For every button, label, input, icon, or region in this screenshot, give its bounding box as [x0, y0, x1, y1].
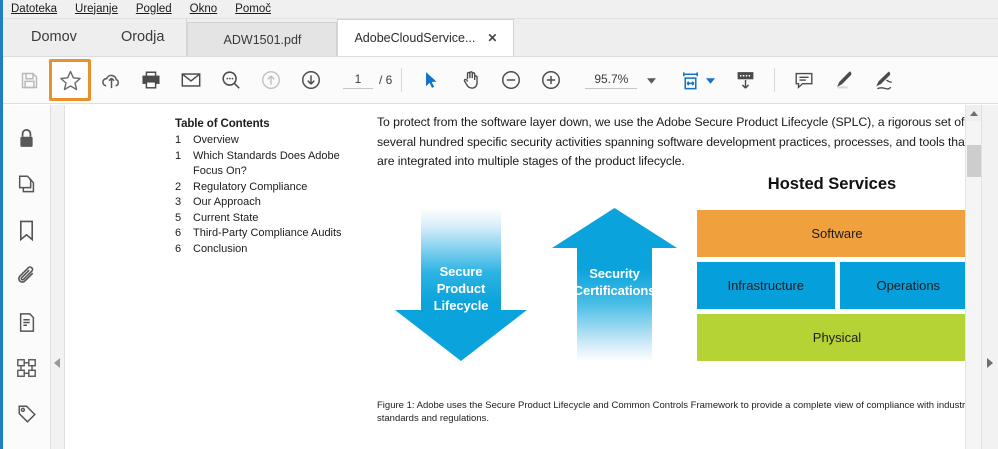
- comment-icon[interactable]: [784, 60, 824, 100]
- fit-page-chevron-down-icon[interactable]: [706, 71, 715, 89]
- arrow-up-line-1: Security: [552, 265, 677, 282]
- arrow-down-label: Secure Product Lifecycle: [395, 263, 527, 314]
- document-icon[interactable]: [12, 309, 42, 335]
- arrow-up-line-2: Certifications: [552, 282, 677, 299]
- left-pane-collapse-handle[interactable]: [51, 105, 65, 449]
- chevron-right-icon: [987, 358, 993, 368]
- toc-entry-title: Which Standards Does Adobe Focus On?: [193, 149, 360, 180]
- document-tabs: ADW1501.pdf AdobeCloudService... ✕: [187, 18, 514, 56]
- attachment-icon[interactable]: [12, 263, 42, 289]
- star-icon[interactable]: [49, 59, 91, 101]
- chevron-up-icon: [970, 111, 978, 116]
- toc-entry-title: Regulatory Compliance: [193, 180, 360, 196]
- arrow-down-line-1: Secure: [395, 263, 527, 280]
- scroll-mode-icon[interactable]: [725, 60, 765, 100]
- search-icon[interactable]: [211, 60, 251, 100]
- toc-entry-page: 1: [175, 133, 193, 149]
- work-area: Table of Contents 1 Overview 1 Which Sta…: [3, 105, 998, 449]
- right-pane-expand-handle[interactable]: [981, 105, 998, 449]
- document-tab-adw1501[interactable]: ADW1501.pdf: [187, 22, 337, 56]
- tab-strip: Domov Orodja ADW1501.pdf AdobeCloudServi…: [3, 19, 998, 57]
- figure-diagram: Hosted Services: [377, 175, 965, 390]
- service-box-infrastructure[interactable]: Infrastructure: [697, 262, 835, 309]
- cloud-upload-icon[interactable]: [91, 60, 131, 100]
- menu-bar: Datoteka Urejanje Pogled Okno Pomoč: [3, 0, 998, 19]
- toc-entry-page: 6: [175, 242, 193, 258]
- zoom-out-icon[interactable]: [491, 60, 531, 100]
- toc-entry[interactable]: 1 Which Standards Does Adobe Focus On?: [175, 149, 360, 180]
- home-button[interactable]: Domov: [9, 18, 99, 56]
- menu-item-pogled-label: Pogled: [136, 3, 172, 15]
- toc-entry-title: Third-Party Compliance Audits: [193, 226, 360, 242]
- toolbar-separator-2: [774, 68, 775, 92]
- service-box-operations-label: Operations: [876, 278, 940, 293]
- secure-product-lifecycle-arrow: Secure Product Lifecycle: [395, 208, 527, 361]
- menu-item-pomoc[interactable]: Pomoč: [235, 0, 271, 19]
- toc-entry-title: Our Approach: [193, 195, 360, 211]
- menu-item-okno[interactable]: Okno: [190, 0, 218, 19]
- chevron-down-icon[interactable]: [647, 71, 656, 89]
- home-tools-group: Domov Orodja: [3, 18, 186, 56]
- toc-entry[interactable]: 2 Regulatory Compliance: [175, 180, 360, 196]
- page-number-input[interactable]: [343, 72, 373, 89]
- toc-entry[interactable]: 5 Current State: [175, 211, 360, 227]
- security-certifications-arrow: Security Certifications: [552, 208, 677, 361]
- body-paragraph: To protect from the software layer down,…: [377, 113, 965, 172]
- service-box-infrastructure-label: Infrastructure: [727, 278, 804, 293]
- document-tab-adobecloudservice[interactable]: AdobeCloudService... ✕: [337, 19, 514, 56]
- menu-item-pomoc-label: Pomoč: [235, 3, 271, 15]
- page-total-label: / 6: [379, 73, 392, 87]
- print-icon[interactable]: [131, 60, 171, 100]
- scroll-up-button[interactable]: [966, 105, 981, 121]
- menu-item-okno-label: Okno: [190, 3, 218, 15]
- page-navigation: / 6: [343, 72, 392, 89]
- layers-icon[interactable]: [12, 355, 42, 381]
- pdf-page: Table of Contents 1 Overview 1 Which Sta…: [65, 105, 965, 449]
- hosted-services-stack: Software Infrastructure Operations Physi…: [697, 210, 965, 366]
- arrow-up-label: Security Certifications: [552, 265, 677, 299]
- pdf-reader-window: Datoteka Urejanje Pogled Okno Pomoč Domo…: [0, 0, 998, 449]
- chevron-left-icon: [54, 358, 60, 368]
- menu-item-urejanje-label: Urejanje: [75, 3, 118, 15]
- scrollbar-thumb[interactable]: [967, 145, 981, 177]
- toc-entry-page: 2: [175, 180, 193, 196]
- service-box-row: Infrastructure Operations: [697, 262, 965, 314]
- toc-entry[interactable]: 6 Conclusion: [175, 242, 360, 258]
- hosted-services-title: Hosted Services: [682, 175, 965, 194]
- navigation-pane: [3, 105, 51, 449]
- main-toolbar: / 6 95.7%: [3, 57, 998, 104]
- zoom-control: 95.7%: [585, 71, 656, 89]
- zoom-level-value[interactable]: 95.7%: [585, 72, 637, 89]
- next-page-icon[interactable]: [291, 60, 331, 100]
- toc-entry[interactable]: 6 Third-Party Compliance Audits: [175, 226, 360, 242]
- toc-entry-page: 1: [175, 149, 193, 180]
- service-box-software-label: Software: [811, 226, 862, 241]
- zoom-in-icon[interactable]: [531, 60, 571, 100]
- toc-entry-title: Current State: [193, 211, 360, 227]
- tools-button[interactable]: Orodja: [99, 18, 187, 56]
- document-tab-adw1501-label: ADW1501.pdf: [224, 33, 302, 47]
- arrow-down-line-3: Lifecycle: [395, 297, 527, 314]
- table-of-contents: Table of Contents 1 Overview 1 Which Sta…: [175, 118, 360, 257]
- toc-entry-title: Overview: [193, 133, 360, 149]
- document-body: To protect from the software layer down,…: [377, 113, 965, 172]
- toc-entry-title: Conclusion: [193, 242, 360, 258]
- toc-entry-page: 5: [175, 211, 193, 227]
- service-box-physical-label: Physical: [813, 330, 861, 345]
- previous-page-icon[interactable]: [251, 60, 291, 100]
- document-viewport[interactable]: Table of Contents 1 Overview 1 Which Sta…: [65, 105, 965, 449]
- bookmark-icon[interactable]: [12, 217, 42, 243]
- toolbar-separator-1: [401, 68, 402, 92]
- page-thumbnails-icon[interactable]: [12, 171, 42, 197]
- toc-entry-page: 3: [175, 195, 193, 211]
- toc-entry[interactable]: 3 Our Approach: [175, 195, 360, 211]
- sign-icon[interactable]: [864, 60, 904, 100]
- menu-item-urejanje[interactable]: Urejanje: [75, 0, 118, 19]
- highlight-icon[interactable]: [824, 60, 864, 100]
- service-box-operations[interactable]: Operations: [840, 262, 966, 309]
- close-icon[interactable]: ✕: [487, 32, 497, 44]
- figure-caption: Figure 1: Adobe uses the Secure Product …: [377, 399, 965, 425]
- vertical-scrollbar[interactable]: [965, 105, 981, 449]
- arrow-down-line-2: Product: [395, 280, 527, 297]
- select-cursor-icon[interactable]: [411, 60, 451, 100]
- tag-icon[interactable]: [12, 401, 42, 427]
- toc-entry-page: 6: [175, 226, 193, 242]
- save-icon[interactable]: [9, 60, 49, 100]
- email-icon[interactable]: [171, 60, 211, 100]
- menu-item-pogled[interactable]: Pogled: [136, 0, 172, 19]
- service-box-physical[interactable]: Physical: [697, 314, 965, 361]
- document-tab-adobecloudservice-label: AdobeCloudService...: [354, 31, 475, 45]
- toc-heading: Table of Contents: [175, 118, 360, 130]
- menu-item-datoteka[interactable]: Datoteka: [11, 0, 57, 19]
- menu-item-datoteka-label: Datoteka: [11, 3, 57, 15]
- service-box-software[interactable]: Software: [697, 210, 965, 257]
- hand-tool-icon[interactable]: [451, 60, 491, 100]
- toc-entry[interactable]: 1 Overview: [175, 133, 360, 149]
- fit-page-icon[interactable]: [670, 60, 710, 100]
- lock-icon[interactable]: [12, 125, 42, 151]
